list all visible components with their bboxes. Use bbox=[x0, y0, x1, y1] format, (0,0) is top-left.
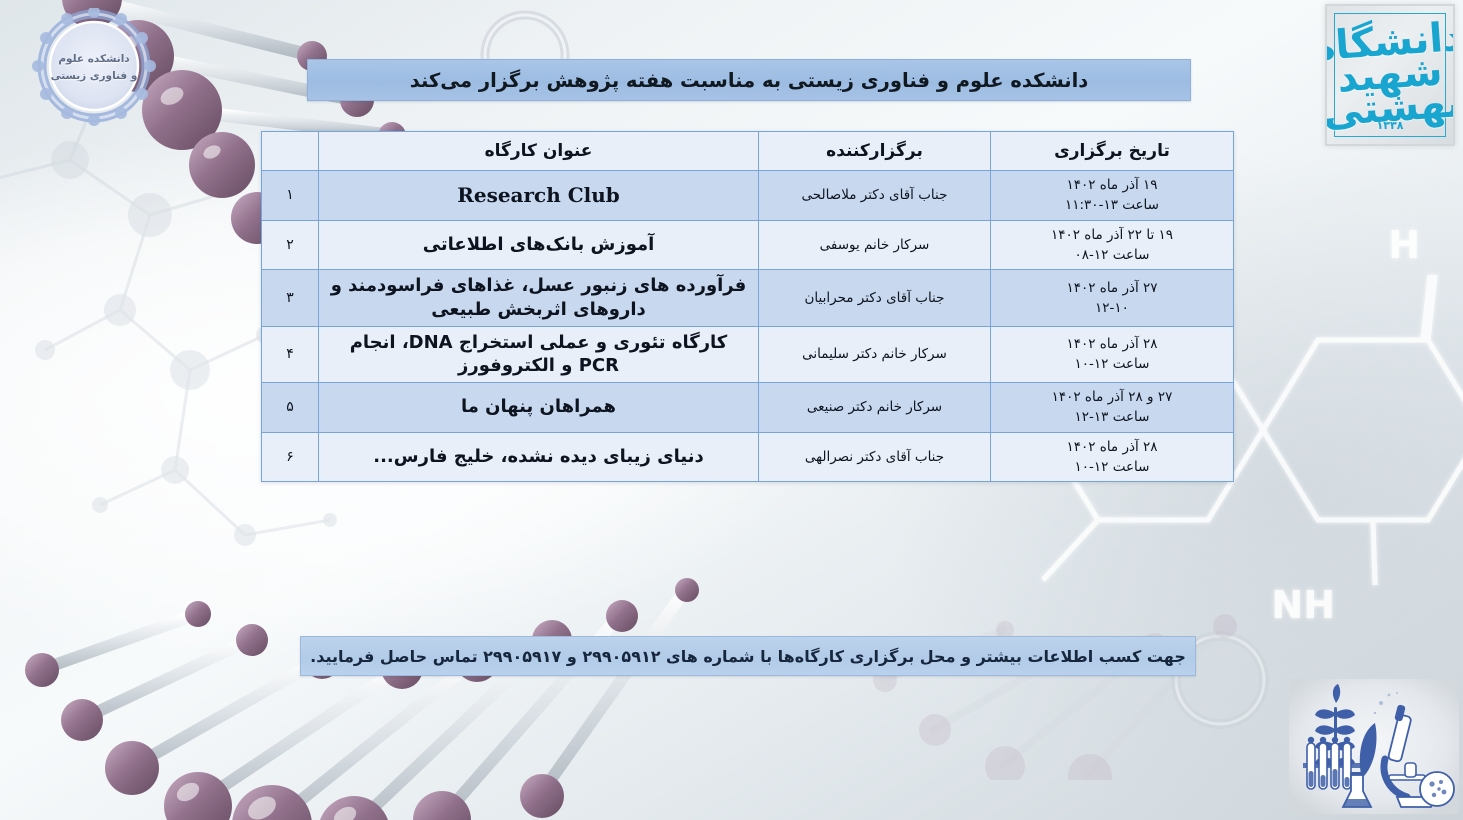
cell-date: ۱۹ آذر ماه ۱۴۰۲ساعت ۱۳-۱۱:۳۰ bbox=[991, 171, 1234, 221]
table-row: ۲۸ آذر ماه ۱۴۰۲ساعت ۱۲-۱۰سرکار خانم دکتر… bbox=[262, 326, 1234, 383]
cell-row-number: ۵ bbox=[262, 383, 319, 433]
title-banner: دانشکده علوم و فناوری زیستی به مناسبت هف… bbox=[307, 59, 1191, 101]
table-header-row: تاریخ برگزاری برگزارکننده عنوان کارگاه bbox=[262, 132, 1234, 171]
date-line-1: ۱۹ تا ۲۲ آذر ماه ۱۴۰۲ bbox=[999, 225, 1225, 245]
poster-canvas: CH 3 H NH bbox=[0, 0, 1463, 820]
header-title: عنوان کارگاه bbox=[319, 132, 759, 171]
date-line-2: ۱۲-۱۰ bbox=[999, 298, 1225, 318]
cell-date: ۲۷ و ۲۸ آذر ماه ۱۴۰۲ساعت ۱۳-۱۲ bbox=[991, 383, 1234, 433]
cell-organizer: سرکار خانم دکتر سلیمانی bbox=[759, 326, 991, 383]
cell-organizer: سرکار خانم یوسفی bbox=[759, 220, 991, 270]
cell-organizer: سرکار خانم دکتر صنیعی bbox=[759, 383, 991, 433]
date-line-2: ساعت ۱۳-۱۲ bbox=[999, 407, 1225, 427]
date-line-1: ۲۸ آذر ماه ۱۴۰۲ bbox=[999, 437, 1225, 457]
cell-row-number: ۳ bbox=[262, 270, 319, 327]
contact-info-text: جهت کسب اطلاعات بیشتر و محل برگزاری کارگ… bbox=[310, 647, 1186, 666]
table-row: ۲۷ و ۲۸ آذر ماه ۱۴۰۲ساعت ۱۳-۱۲سرکار خانم… bbox=[262, 383, 1234, 433]
date-line-1: ۲۸ آذر ماه ۱۴۰۲ bbox=[999, 334, 1225, 354]
table-row: ۱۹ تا ۲۲ آذر ماه ۱۴۰۲ساعت ۱۲-۰۸سرکار خان… bbox=[262, 220, 1234, 270]
cell-date: ۱۹ تا ۲۲ آذر ماه ۱۴۰۲ساعت ۱۲-۰۸ bbox=[991, 220, 1234, 270]
date-line-1: ۲۷ و ۲۸ آذر ماه ۱۴۰۲ bbox=[999, 387, 1225, 407]
cell-date: ۲۷ آذر ماه ۱۴۰۲۱۲-۱۰ bbox=[991, 270, 1234, 327]
cell-workshop-title: همراهان پنهان ما bbox=[319, 383, 759, 433]
faculty-logo-line2: و فناوری زیستی bbox=[51, 70, 138, 82]
university-logo: دانشگاه شهید بهشتی ۱۳۳۸ bbox=[1325, 4, 1455, 146]
cell-date: ۲۸ آذر ماه ۱۴۰۲ساعت ۱۲-۱۰ bbox=[991, 432, 1234, 482]
workshop-schedule-table: تاریخ برگزاری برگزارکننده عنوان کارگاه ۱… bbox=[261, 131, 1234, 482]
cell-workshop-title: فرآورده های زنبور عسل، غذاهای فراسودمند … bbox=[319, 270, 759, 327]
svg-text:H: H bbox=[1388, 223, 1420, 267]
university-logo-year: ۱۳۳۸ bbox=[1327, 119, 1453, 132]
header-date: تاریخ برگزاری bbox=[991, 132, 1234, 171]
cell-organizer: جناب آقای دکتر نصرالهی bbox=[759, 432, 991, 482]
date-line-2: ساعت ۱۲-۱۰ bbox=[999, 354, 1225, 374]
faculty-logo: دانشکده علوم و فناوری زیستی bbox=[14, 8, 174, 126]
cell-workshop-title: آموزش بانک‌های اطلاعاتی bbox=[319, 220, 759, 270]
svg-text:NH: NH bbox=[1271, 583, 1335, 627]
biotech-illustration bbox=[1289, 679, 1459, 814]
date-line-2: ساعت ۱۲-۱۰ bbox=[999, 457, 1225, 477]
date-line-2: ساعت ۱۲-۰۸ bbox=[999, 245, 1225, 265]
cell-icon bbox=[1420, 772, 1454, 806]
cell-organizer: جناب آقای دکتر محرابیان bbox=[759, 270, 991, 327]
dna-helix-icon bbox=[863, 480, 1283, 780]
cell-workshop-title: دنیای زیبای دیده نشده، خلیج فارس... bbox=[319, 432, 759, 482]
university-logo-script: دانشگاه شهید بهشتی bbox=[1325, 21, 1455, 130]
poster-title: دانشکده علوم و فناوری زیستی به مناسبت هف… bbox=[410, 69, 1089, 92]
header-organizer: برگزارکننده bbox=[759, 132, 991, 171]
cell-workshop-title: Research Club bbox=[319, 171, 759, 221]
footer-banner: جهت کسب اطلاعات بیشتر و محل برگزاری کارگ… bbox=[300, 636, 1196, 676]
cell-row-number: ۶ bbox=[262, 432, 319, 482]
cell-organizer: جناب آقای دکتر ملاصالحی bbox=[759, 171, 991, 221]
date-line-1: ۱۹ آذر ماه ۱۴۰۲ bbox=[999, 175, 1225, 195]
cell-row-number: ۲ bbox=[262, 220, 319, 270]
date-line-2: ساعت ۱۳-۱۱:۳۰ bbox=[999, 195, 1225, 215]
cell-row-number: ۱ bbox=[262, 171, 319, 221]
date-line-1: ۲۷ آذر ماه ۱۴۰۲ bbox=[999, 278, 1225, 298]
cell-date: ۲۸ آذر ماه ۱۴۰۲ساعت ۱۲-۱۰ bbox=[991, 326, 1234, 383]
table-row: ۲۸ آذر ماه ۱۴۰۲ساعت ۱۲-۱۰جناب آقای دکتر … bbox=[262, 432, 1234, 482]
header-number bbox=[262, 132, 319, 171]
table-row: ۱۹ آذر ماه ۱۴۰۲ساعت ۱۳-۱۱:۳۰جناب آقای دک… bbox=[262, 171, 1234, 221]
faculty-logo-line1: دانشکده علوم bbox=[58, 53, 129, 65]
table-row: ۲۷ آذر ماه ۱۴۰۲۱۲-۱۰جناب آقای دکتر محراب… bbox=[262, 270, 1234, 327]
cell-row-number: ۴ bbox=[262, 326, 319, 383]
cell-workshop-title: کارگاه تئوری و عملی استخراج DNA، انجام P… bbox=[319, 326, 759, 383]
